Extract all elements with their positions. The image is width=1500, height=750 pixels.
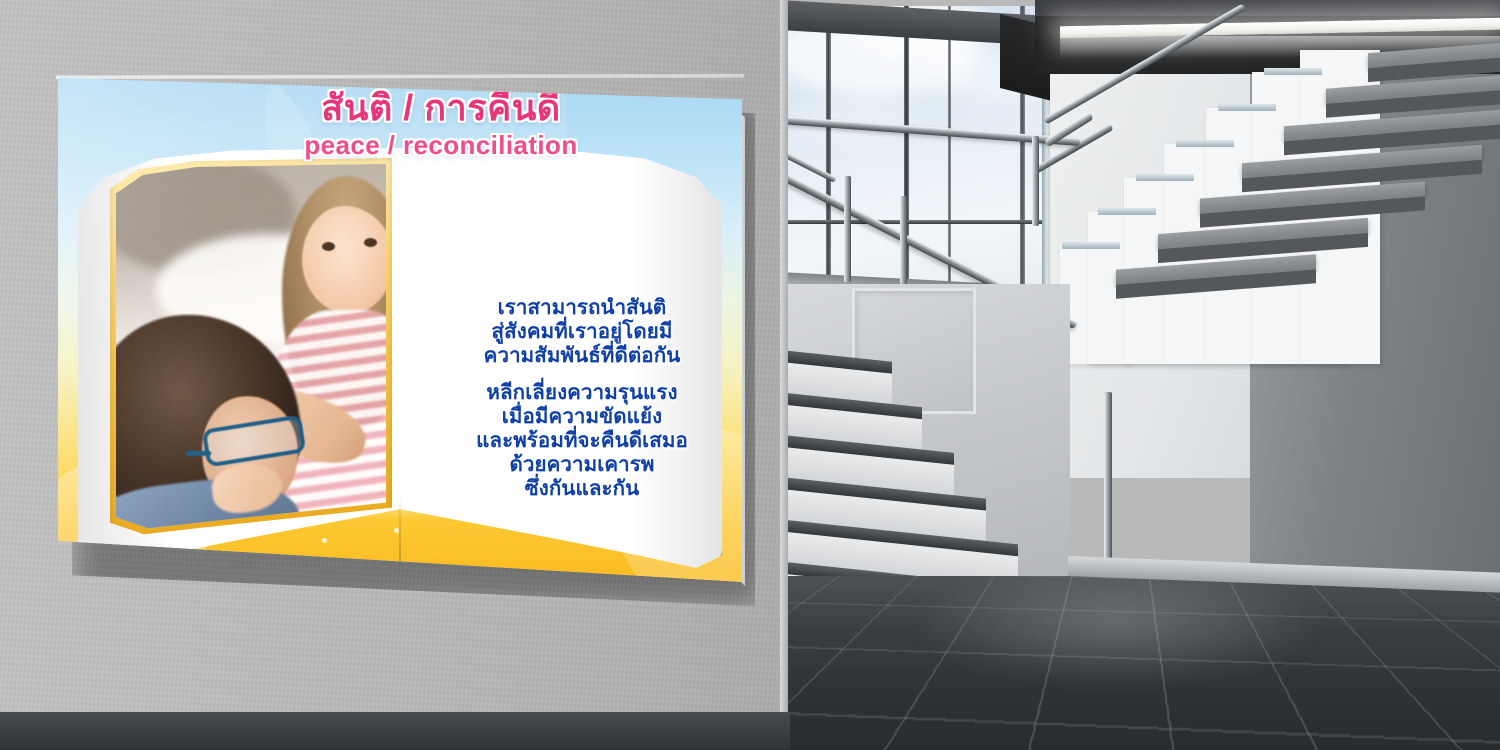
poster[interactable]: เราสามารถนำสันติ สู่สังคมที่เราอยู่โดยมี… [56,76,742,584]
floating-staircase [1060,50,1500,360]
poster-title-block: สันติ / การคืนดี peace / reconciliation [206,90,676,158]
page-subtitle: peace / reconciliation [206,132,676,158]
open-book-graphic: เราสามารถนำสันติ สู่สังคมที่เราอยู่โดยมี… [78,148,722,568]
copy-line: ความสัมพันธ์ที่ดีต่อกัน [432,344,732,368]
baseboard-left [0,712,790,750]
tiled-floor [786,576,1500,750]
copy-line: หลีกเลี่ยงความรุนแรง [432,381,732,405]
copy-line: เราสามารถนำสันติ [432,296,732,320]
handrail-post-b [900,196,907,284]
copy-line: ซึ่งกันและกัน [432,477,732,501]
paragraph-2: หลีกเลี่ยงความรุนแรง เมื่อมีความขัดแย้ง … [432,381,732,501]
copy-line: สู่สังคมที่เราอยู่โดยมี [432,320,732,344]
paragraph-1: เราสามารถนำสันติ สู่สังคมที่เราอยู่โดยมี… [432,296,732,368]
wall-corner-edge [780,0,788,720]
handrail-post-a [844,176,851,282]
copy-line: เมื่อมีความขัดแย้ง [432,405,732,429]
poster-body-copy: เราสามารถนำสันติ สู่สังคมที่เราอยู่โดยมี… [432,296,732,501]
book-fold [399,490,401,564]
copy-line: และพร้อมที่จะคืนดีเสมอ [432,429,732,453]
ceiling-fascia [1035,0,1500,16]
handrail-post-c [1032,136,1039,226]
two-children-talking-photo [116,164,386,532]
copy-line: ด้วยความเคารพ [432,453,732,477]
poster-background: เราสามารถนำสันติ สู่สังคมที่เราอยู่โดยมี… [56,76,742,584]
page-title: สันติ / การคืนดี [206,90,676,126]
scene-root: เราสามารถนำสันติ สู่สังคมที่เราอยู่โดยมี… [0,0,1500,750]
